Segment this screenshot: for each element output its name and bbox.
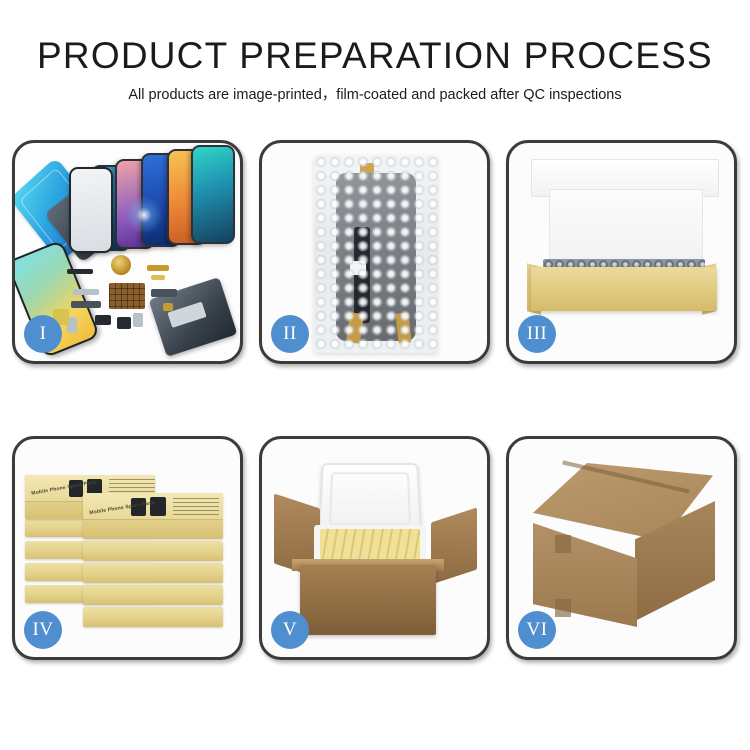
carton-tape-tab-upper-icon <box>555 535 571 553</box>
retail-box-icon <box>83 607 223 627</box>
carton-tape-tab-lower-icon <box>555 599 571 617</box>
process-step-panel-3: III <box>506 140 737 364</box>
retail-box-bullet-lines <box>173 496 219 515</box>
step-badge-6: VI <box>518 611 556 649</box>
carton-flap-right-icon <box>431 508 477 585</box>
spare-parts-cluster <box>67 259 197 345</box>
screen-crack-effect-icon <box>127 195 161 235</box>
small-chip-icon <box>95 315 111 325</box>
page-title: PRODUCT PREPARATION PROCESS <box>0 34 750 78</box>
process-step-panel-4: Mobile Phone Spare Parts Mobile Phone Sp… <box>12 436 243 660</box>
step-badge-4: IV <box>24 611 62 649</box>
process-steps-grid: I II <box>12 140 738 660</box>
bubble-wrap-bag-icon <box>314 155 438 353</box>
gold-flex-part-icon <box>147 265 169 271</box>
retail-box-icon <box>83 585 223 605</box>
step-badge-2: II <box>271 315 309 353</box>
bubble-texture-overlay <box>314 155 438 353</box>
step-badge-3: III <box>518 315 556 353</box>
vibration-motor-icon <box>117 317 131 329</box>
flex-cable-icon <box>73 289 99 295</box>
page-subtitle: All products are image-printed，film-coat… <box>0 86 750 105</box>
gold-connector-icon <box>151 275 165 280</box>
camera-module-icon <box>151 289 177 297</box>
chip-array-icon <box>109 283 145 309</box>
phone-front-glass-icon <box>69 167 113 253</box>
sim-tray-icon <box>133 313 143 327</box>
process-step-panel-5: V <box>259 436 490 660</box>
step-badge-1: I <box>24 315 62 353</box>
retail-box-icon <box>83 541 223 561</box>
process-step-panel-2: II <box>259 140 490 364</box>
process-step-panel-6: VI <box>506 436 737 660</box>
gold-contact-icon <box>163 303 173 311</box>
phone-display-5-icon <box>191 145 235 244</box>
gold-coil-icon <box>111 255 131 275</box>
carton-body-icon <box>300 565 436 635</box>
header: PRODUCT PREPARATION PROCESS All products… <box>0 34 750 105</box>
product-preparation-infographic: PRODUCT PREPARATION PROCESS All products… <box>0 0 750 750</box>
kraft-box-front-icon <box>531 267 717 311</box>
sealed-carton-front-face <box>533 523 637 627</box>
retail-box-top-right: Mobile Phone Spare Parts <box>83 493 223 539</box>
process-step-panel-1: I <box>12 140 243 364</box>
step-badge-5: V <box>271 611 309 649</box>
retail-box-icon <box>83 563 223 583</box>
ribbon-cable-icon <box>71 301 101 308</box>
speaker-part-icon <box>67 269 93 274</box>
